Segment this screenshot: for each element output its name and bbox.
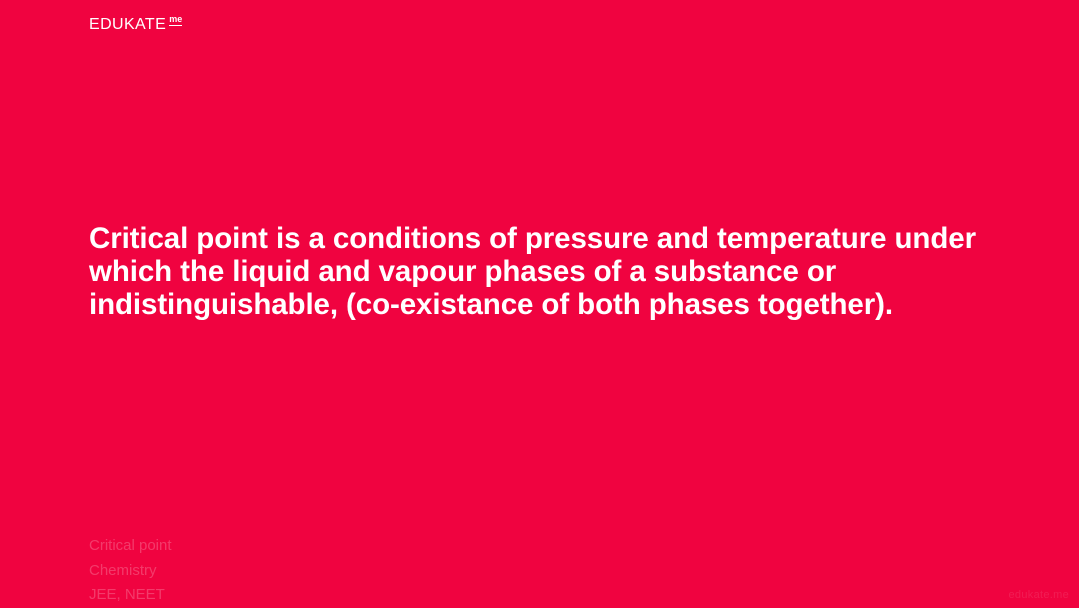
watermark: edukate.me	[1009, 589, 1069, 601]
slide-headline: Critical point is a conditions of pressu…	[89, 222, 989, 321]
footer-topic: Critical point	[89, 534, 172, 559]
headline-line-2: which the liquid and vapour phases of a …	[89, 255, 989, 288]
brand-logo-superscript: me	[169, 15, 182, 26]
footer-exams: JEE, NEET	[89, 583, 172, 608]
slide-canvas: EDUKATE me Critical point is a condition…	[0, 0, 1079, 607]
headline-line-3: indistinguishable, (co-existance of both…	[89, 288, 989, 321]
footer-subject: Chemistry	[89, 559, 172, 584]
slide-footer-metadata: Critical point Chemistry JEE, NEET	[89, 534, 172, 608]
brand-logo[interactable]: EDUKATE me	[89, 17, 182, 33]
headline-line-1: Critical point is a conditions of pressu…	[89, 222, 989, 255]
brand-logo-wordmark: EDUKATE	[89, 17, 166, 33]
